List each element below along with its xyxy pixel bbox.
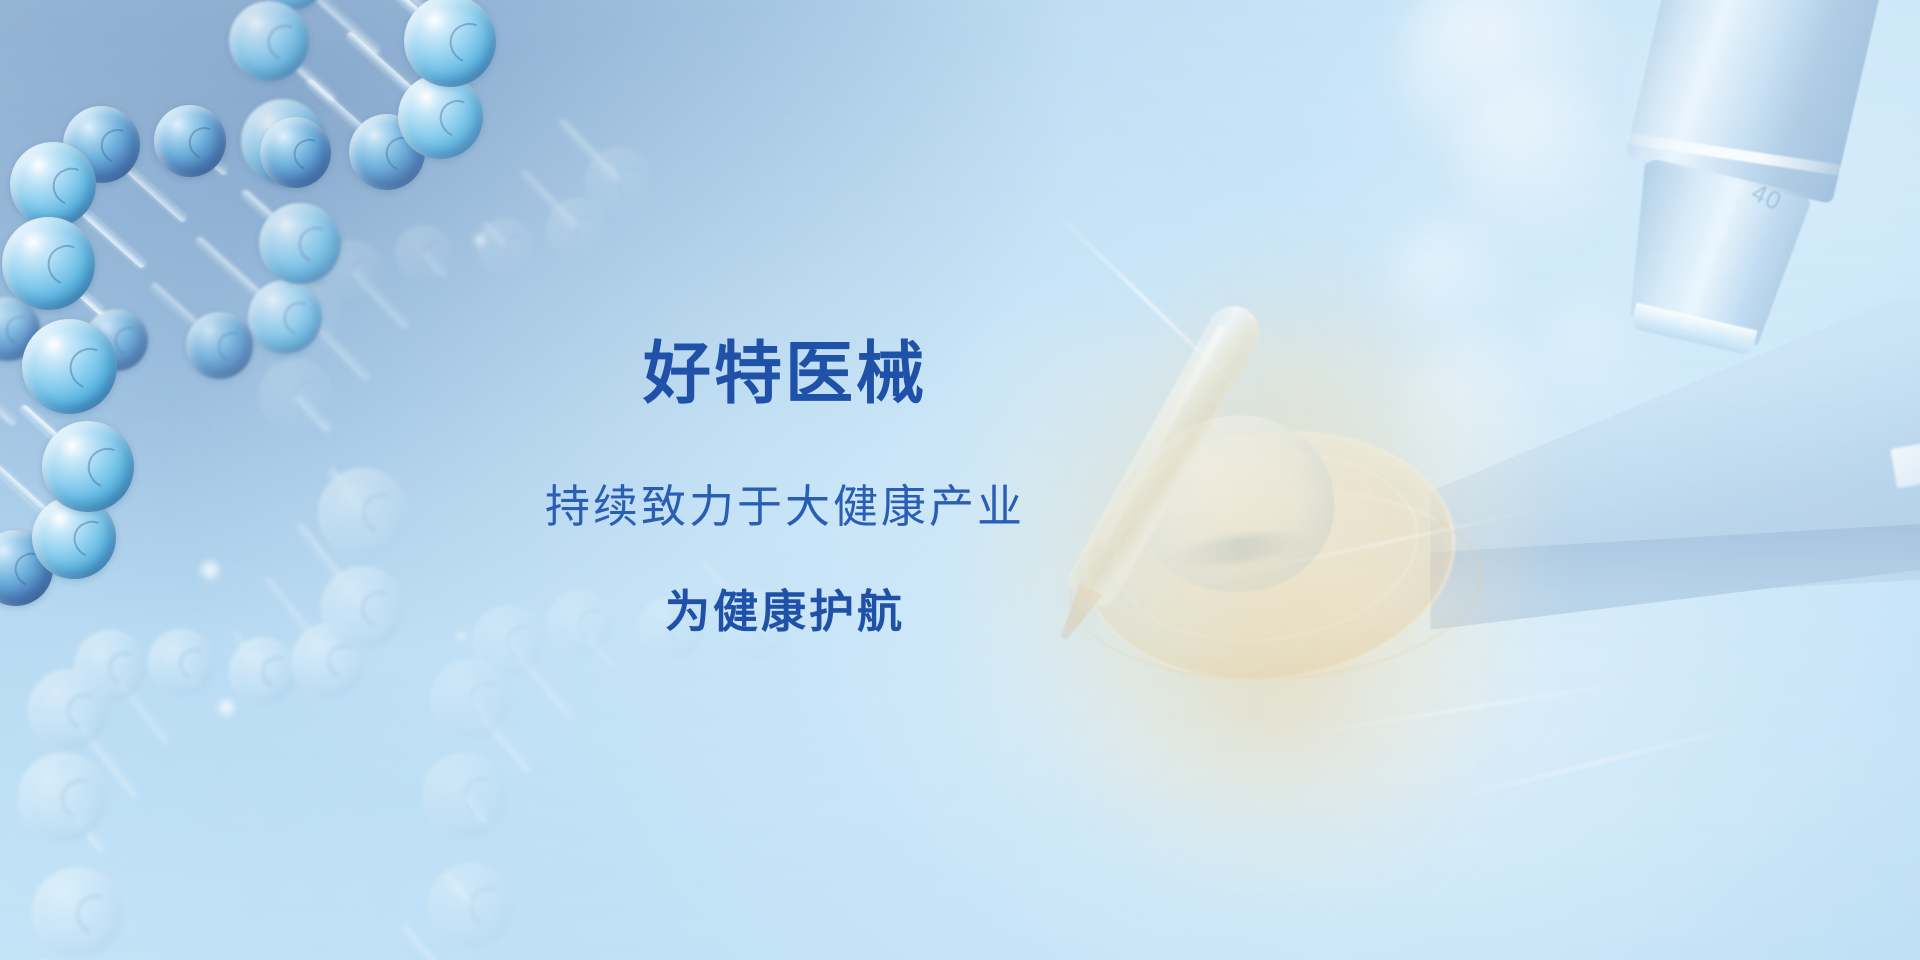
- hero-tagline: 为健康护航: [475, 589, 1095, 634]
- amber-glow: [1060, 560, 1490, 890]
- hero-subtitle: 持续致力于大健康产业: [475, 484, 1095, 529]
- hero-copy: 好特医械 持续致力于大健康产业 为健康护航: [475, 340, 1095, 634]
- page-title: 好特医械: [475, 340, 1095, 408]
- hero-banner: 40 好特医械 持续致力于大健康产业 为健康护航: [0, 0, 1920, 960]
